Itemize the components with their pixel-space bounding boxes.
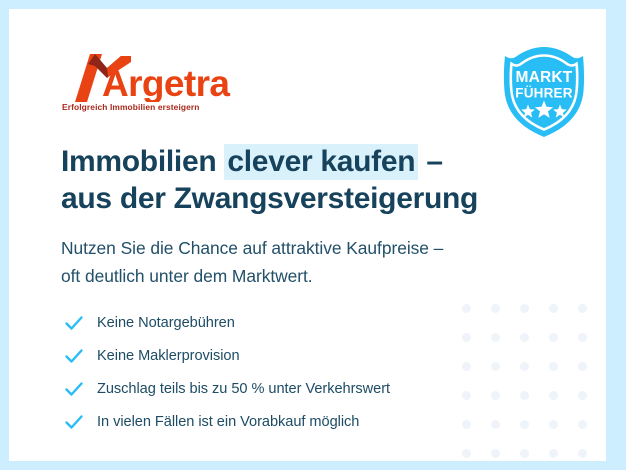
dot [578,362,587,371]
benefit-label: Keine Notargebühren [97,313,235,333]
check-icon [64,313,84,333]
dot [549,420,558,429]
dot [549,449,558,458]
dot [549,391,558,400]
dot [578,420,587,429]
check-icon [64,379,84,399]
subtitle-line-1: Nutzen Sie die Chance auf attraktive Kau… [61,234,581,262]
list-item: Keine Maklerprovision [64,341,534,371]
badge-line2: FÜHRER [515,86,572,101]
dot [578,449,587,458]
benefits-list: Keine Notargebühren Keine Maklerprovisio… [64,308,534,440]
check-icon [64,346,84,366]
dot [520,449,529,458]
check-icon [64,412,84,432]
dot [462,449,471,458]
logo-tagline: Erfolgreich Immobilien ersteigern [62,102,200,112]
market-leader-badge-icon: MARKT FÜHRER [496,44,592,140]
list-item: In vielen Fällen ist ein Vorabkauf mögli… [64,407,534,437]
promo-banner: Argetra Erfolgreich Immobilien ersteiger… [0,0,626,470]
subtitle-line-2: oft deutlich unter dem Marktwert. [61,262,581,290]
argetra-logo[interactable]: Argetra Erfolgreich Immobilien ersteiger… [61,52,261,118]
dot [549,333,558,342]
dot [578,304,587,313]
headline-line-2: aus der Zwangsversteigerung [61,180,561,217]
headline-text-before: Immobilien [61,145,224,178]
headline-line-1: Immobilien clever kaufen – [61,143,561,180]
argetra-logomark-icon: Argetra [61,52,261,102]
badge-line1: MARKT [516,69,573,86]
dot [578,391,587,400]
dot [578,333,587,342]
svg-text:Argetra: Argetra [102,63,230,102]
banner-card: Argetra Erfolgreich Immobilien ersteiger… [9,9,606,461]
dot [549,304,558,313]
dot [491,449,500,458]
headline-text-after: – [418,145,442,178]
dot-row [456,449,606,458]
list-item: Zuschlag teils bis zu 50 % unter Verkehr… [64,374,534,404]
page-title: Immobilien clever kaufen – aus der Zwang… [61,143,561,217]
benefit-label: In vielen Fällen ist ein Vorabkauf mögli… [97,412,359,432]
headline-highlight: clever kaufen [224,144,418,180]
dot [549,362,558,371]
benefit-label: Keine Maklerprovision [97,346,240,366]
list-item: Keine Notargebühren [64,308,534,338]
subtitle: Nutzen Sie die Chance auf attraktive Kau… [61,234,581,290]
benefit-label: Zuschlag teils bis zu 50 % unter Verkehr… [97,379,390,399]
